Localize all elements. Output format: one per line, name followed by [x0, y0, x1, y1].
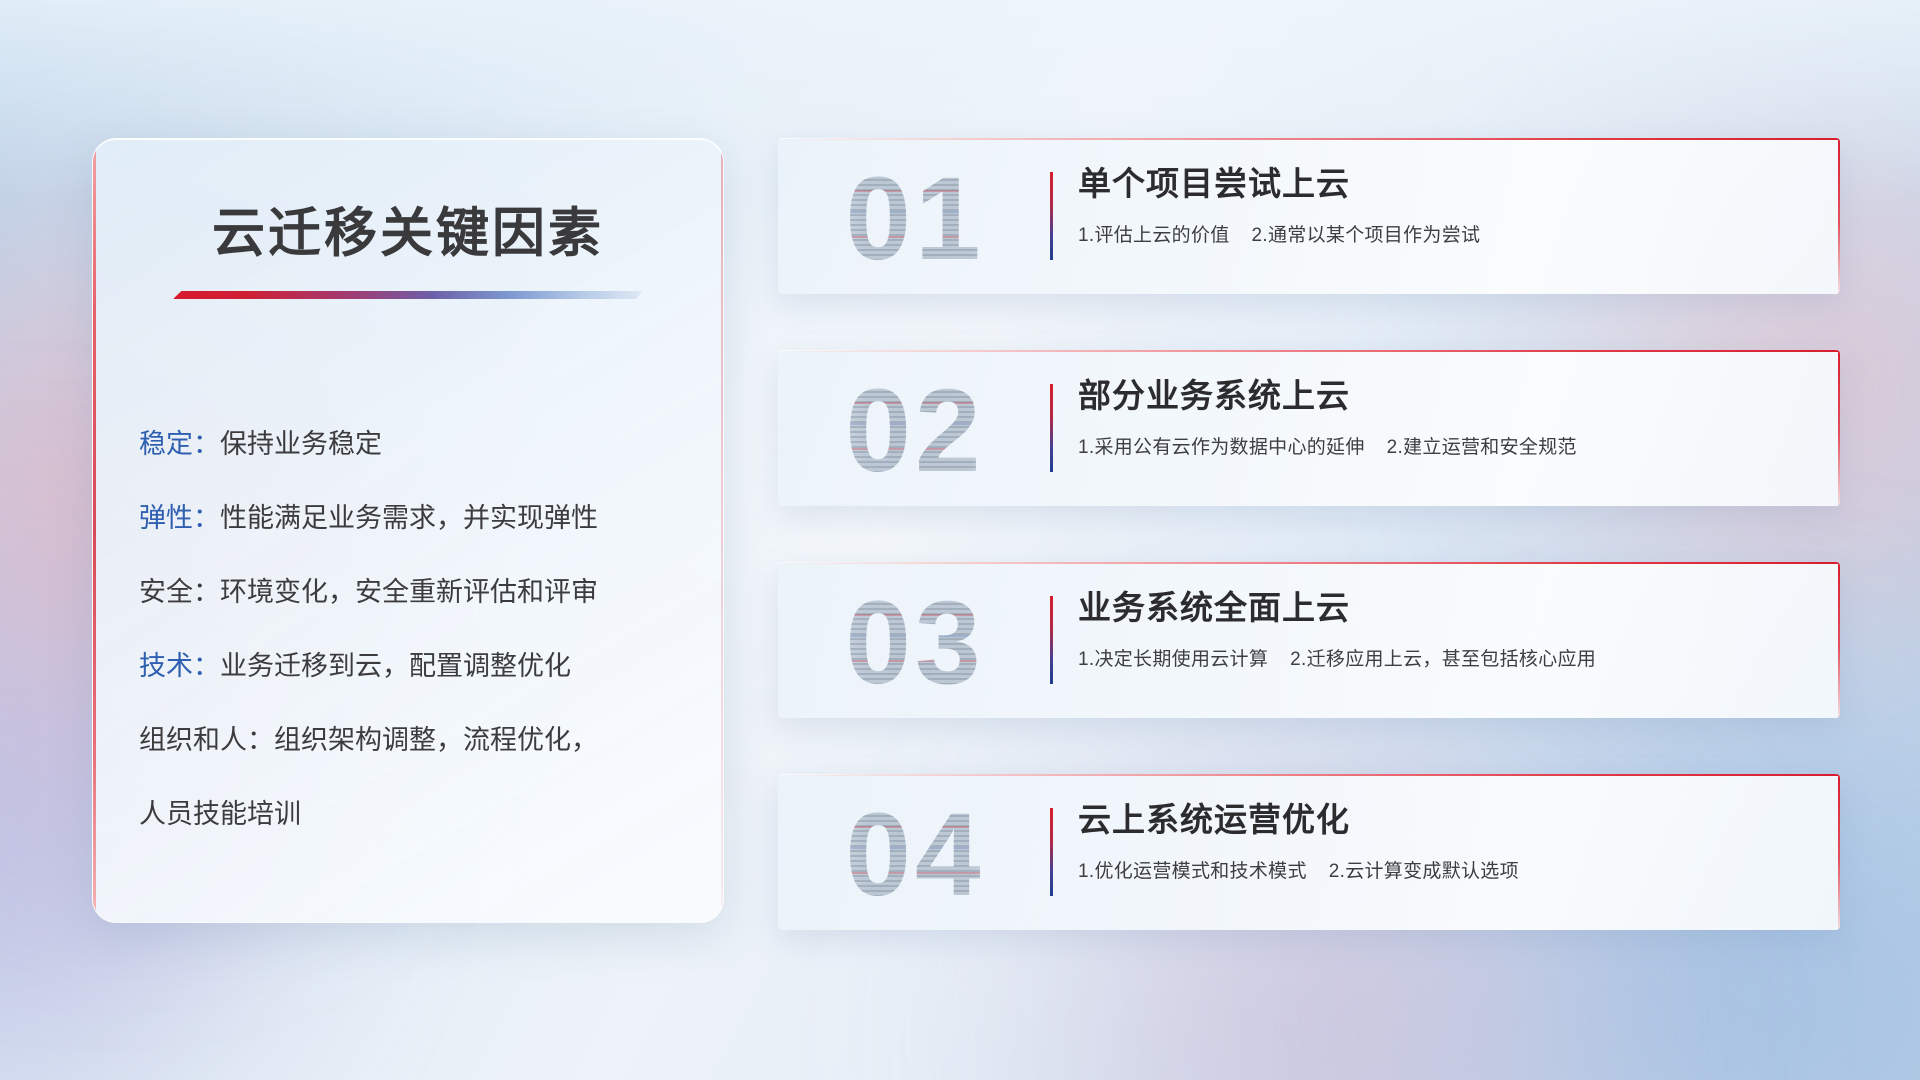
card-desc-item-2: 2.建立运营和安全规范	[1387, 437, 1577, 458]
stage-number-01: 01	[800, 144, 1030, 294]
card-desc-item-2: 2.通常以某个项目作为尝试	[1252, 225, 1481, 246]
factor-list: 稳定：保持业务稳定 弹性：性能满足业务需求，并实现弹性 安全：环境变化，安全重新…	[93, 407, 723, 851]
stage-number-02: 02	[800, 356, 1030, 506]
card-accent-bar	[1050, 808, 1053, 896]
factor-key: 安全：	[139, 577, 220, 607]
factor-key: 技术：	[139, 651, 220, 681]
card-title: 云上系统运营优化	[1078, 800, 1800, 840]
title-underline-gradient	[173, 291, 643, 299]
card-description: 1.决定长期使用云计算2.迁移应用上云，甚至包括核心应用	[1078, 644, 1800, 671]
list-item: 弹性：性能满足业务需求，并实现弹性	[139, 481, 687, 555]
card-body: 部分业务系统上云 1.采用公有云作为数据中心的延伸2.建立运营和安全规范	[1078, 376, 1800, 459]
factor-value: 业务迁移到云，配置调整优化	[220, 651, 571, 681]
card-desc-item-2: 2.迁移应用上云，甚至包括核心应用	[1290, 649, 1596, 670]
card-desc-item-1: 1.采用公有云作为数据中心的延伸	[1078, 437, 1365, 458]
page-title: 云迁移关键因素	[93, 191, 723, 267]
slide-stage: 云迁移关键因素 稳定：保持业务稳定 弹性：性能满足业务需求，并实现弹性 安全：环…	[0, 0, 1920, 1080]
factor-value: 环境变化，安全重新评估和评审	[220, 577, 598, 607]
card-desc-item-1: 1.评估上云的价值	[1078, 225, 1230, 246]
list-item: 稳定：保持业务稳定	[139, 407, 687, 481]
stage-cards-column: 01 01 单个项目尝试上云 1.评估上云的价值2.通常以某个项目作为尝试 02…	[778, 138, 1840, 930]
card-desc-item-1: 1.决定长期使用云计算	[1078, 649, 1268, 670]
factor-key: 弹性：	[139, 503, 220, 533]
stage-number-03: 03	[800, 568, 1030, 718]
card-top-accent-line	[778, 138, 1840, 140]
stage-card-02[interactable]: 02 02 部分业务系统上云 1.采用公有云作为数据中心的延伸2.建立运营和安全…	[778, 350, 1840, 506]
factor-value: 组织架构调整，流程优化，	[274, 725, 598, 755]
card-accent-bar	[1050, 172, 1053, 260]
card-top-accent-line	[778, 774, 1840, 776]
card-title: 部分业务系统上云	[1078, 376, 1800, 416]
list-item: 组织和人：组织架构调整，流程优化，	[139, 703, 687, 777]
key-factors-panel: 云迁移关键因素 稳定：保持业务稳定 弹性：性能满足业务需求，并实现弹性 安全：环…	[92, 138, 724, 923]
card-body: 业务系统全面上云 1.决定长期使用云计算2.迁移应用上云，甚至包括核心应用	[1078, 588, 1800, 671]
card-top-accent-line	[778, 350, 1840, 352]
card-description: 1.采用公有云作为数据中心的延伸2.建立运营和安全规范	[1078, 432, 1800, 459]
stage-number-04: 04	[800, 780, 1030, 930]
card-accent-bar	[1050, 596, 1053, 684]
stage-card-04[interactable]: 04 04 云上系统运营优化 1.优化运营模式和技术模式2.云计算变成默认选项	[778, 774, 1840, 930]
stage-card-03[interactable]: 03 03 业务系统全面上云 1.决定长期使用云计算2.迁移应用上云，甚至包括核…	[778, 562, 1840, 718]
factor-key: 组织和人：	[139, 725, 274, 755]
card-body: 云上系统运营优化 1.优化运营模式和技术模式2.云计算变成默认选项	[1078, 800, 1800, 883]
factor-value: 性能满足业务需求，并实现弹性	[220, 503, 598, 533]
stage-card-01[interactable]: 01 01 单个项目尝试上云 1.评估上云的价值2.通常以某个项目作为尝试	[778, 138, 1840, 294]
card-top-accent-line	[778, 562, 1840, 564]
card-accent-bar	[1050, 384, 1053, 472]
card-right-accent-line	[1838, 350, 1840, 506]
card-desc-item-1: 1.优化运营模式和技术模式	[1078, 861, 1307, 882]
card-title: 单个项目尝试上云	[1078, 164, 1800, 204]
card-description: 1.优化运营模式和技术模式2.云计算变成默认选项	[1078, 856, 1800, 883]
card-body: 单个项目尝试上云 1.评估上云的价值2.通常以某个项目作为尝试	[1078, 164, 1800, 247]
factor-key: 稳定：	[139, 429, 220, 459]
card-right-accent-line	[1838, 774, 1840, 930]
card-description: 1.评估上云的价值2.通常以某个项目作为尝试	[1078, 220, 1800, 247]
card-right-accent-line	[1838, 562, 1840, 718]
card-right-accent-line	[1838, 138, 1840, 294]
list-item-continuation: 人员技能培训	[139, 777, 687, 851]
list-item: 安全：环境变化，安全重新评估和评审	[139, 555, 687, 629]
list-item: 技术：业务迁移到云，配置调整优化	[139, 629, 687, 703]
factor-value: 保持业务稳定	[220, 429, 382, 459]
card-title: 业务系统全面上云	[1078, 588, 1800, 628]
card-desc-item-2: 2.云计算变成默认选项	[1329, 861, 1519, 882]
